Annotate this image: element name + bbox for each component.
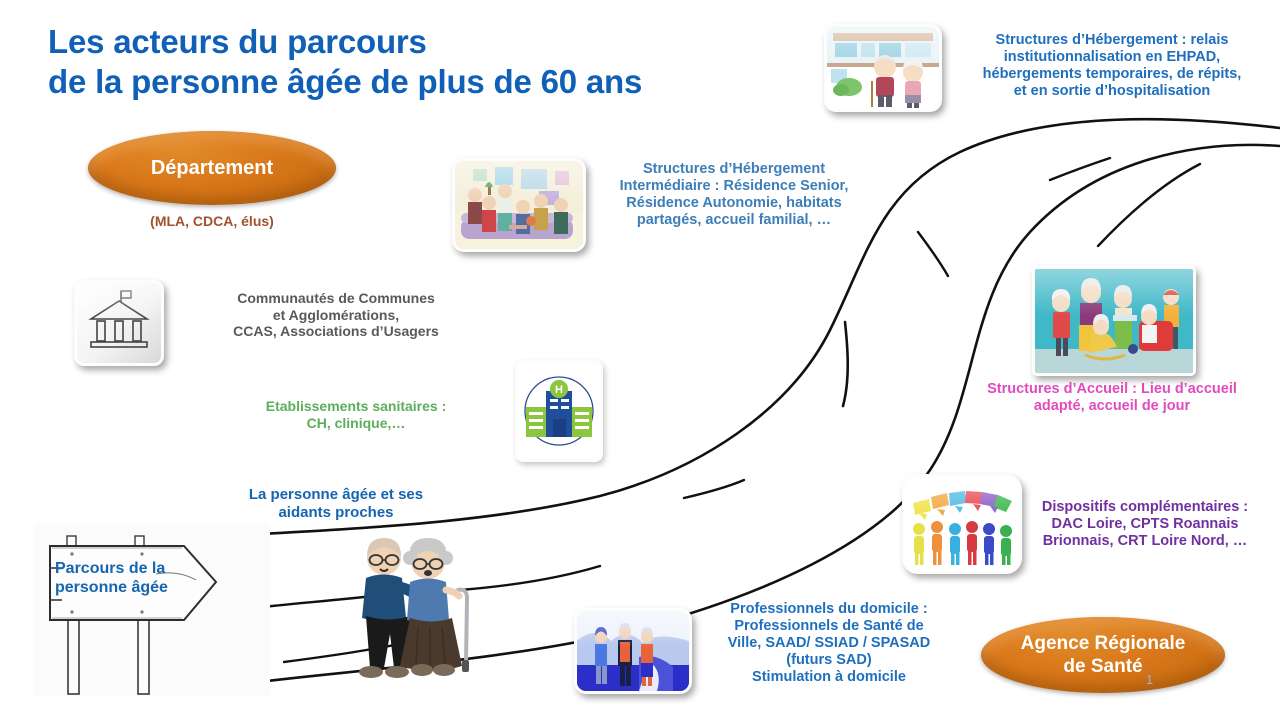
heb-top-line-3: hébergements temporaires, de répits, (950, 66, 1274, 83)
heb-top-line-2: institutionnalisation en EHPAD, (950, 49, 1274, 66)
signpost-label: Parcours de la personne âgée (55, 560, 215, 597)
network-people-puzzle-icon (902, 474, 1022, 574)
node-departement[interactable]: Département (88, 131, 336, 205)
heb-int-line-4: partagés, accueil familial, … (588, 212, 880, 229)
ars-label-line-2: de Santé (1063, 656, 1142, 677)
hospital-glyph: H (518, 363, 600, 459)
elderly-couple-glyph (340, 530, 480, 686)
caption-structures-hebergement: Structures d’Hébergement : relais instit… (950, 32, 1274, 100)
signpost-line-1: Parcours de la (55, 560, 215, 579)
disp-line-2: DAC Loire, CPTS Roannais (1012, 516, 1278, 533)
heb-top-line-1: Structures d’Hébergement : relais (950, 32, 1274, 49)
caption-communautes-communes: Communautés de Communes et Agglomération… (200, 290, 472, 340)
signpost-line-2: personne âgée (55, 579, 215, 598)
disp-line-3: Brionnais, CRT Loire Nord, … (1012, 533, 1278, 550)
home-care-professionals-image (574, 608, 692, 694)
accueil-illustration (1035, 269, 1193, 373)
disp-line-1: Dispositifs complémentaires : (1012, 499, 1278, 516)
caption-etablissements-sanitaires: Etablissements sanitaires : CH, clinique… (253, 398, 459, 431)
bank-glyph (77, 283, 161, 363)
heb-int-line-3: Résidence Autonomie, habitats (588, 195, 880, 212)
caption-hebergement-intermediaire: Structures d’Hébergement Intermédiaire :… (588, 161, 880, 229)
ehpad-illustration (827, 27, 939, 109)
comm-line-3: CCAS, Associations d’Usagers (200, 323, 472, 340)
accueil-line-2: adapté, accueil de jour (948, 398, 1276, 415)
day-care-seniors-image (1032, 266, 1196, 376)
svg-text:H: H (555, 384, 563, 396)
etab-line-1: Etablissements sanitaires : (253, 398, 459, 415)
prof-line-5: Stimulation à domicile (690, 669, 968, 686)
accueil-line-1: Structures d’Accueil : Lieu d’accueil (948, 381, 1276, 398)
professionnels-illustration (577, 611, 689, 691)
caption-structures-accueil: Structures d’Accueil : Lieu d’accueil ad… (948, 381, 1276, 415)
bank-building-icon (74, 280, 164, 366)
heb-int-line-2: Intermédiaire : Résidence Senior, (588, 178, 880, 195)
title-line-1: Les acteurs du parcours (48, 23, 427, 60)
signpost-glyph (34, 524, 270, 696)
departement-sublabel: (MLA, CDCA, élus) (88, 213, 336, 229)
prof-line-3: Ville, SAAD/ SSIAD / SPASAD (690, 635, 968, 652)
slide-canvas: Les acteurs du parcours de la personne â… (0, 0, 1280, 720)
hospital-building-icon: H (515, 360, 603, 462)
heb-int-line-1: Structures d’Hébergement (588, 161, 880, 178)
ehpad-couple-building-image (824, 24, 942, 112)
caption-personne-agee: La personne âgée et ses aidants proches (196, 486, 476, 521)
caption-professionnels-domicile: Professionnels du domicile : Professionn… (690, 601, 968, 687)
senior-residence-lounge-image (452, 158, 586, 252)
elderly-couple-illustration (340, 530, 480, 686)
pers-line-2: aidants proches (196, 504, 476, 522)
node-agence-regionale-sante[interactable]: Agence Régionale de Santé (981, 617, 1225, 693)
heb-top-line-4: et en sortie d’hospitalisation (950, 83, 1274, 100)
slide-number: 1 (1146, 672, 1153, 687)
prof-line-1: Professionnels du domicile : (690, 601, 968, 618)
residence-illustration (455, 161, 583, 249)
departement-label: Département (151, 157, 273, 180)
etab-line-2: CH, clinique,… (253, 415, 459, 432)
pers-line-1: La personne âgée et ses (196, 486, 476, 504)
wooden-signpost-icon (34, 524, 270, 696)
dispositifs-glyph (905, 477, 1019, 571)
caption-dispositifs-complementaires: Dispositifs complémentaires : DAC Loire,… (1012, 499, 1278, 550)
prof-line-4: (futurs SAD) (690, 652, 968, 669)
prof-line-2: Professionnels de Santé de (690, 618, 968, 635)
comm-line-1: Communautés de Communes (200, 290, 472, 307)
comm-line-2: et Agglomérations, (200, 307, 472, 324)
ars-label-line-1: Agence Régionale (1021, 633, 1186, 654)
page-title: Les acteurs du parcours de la personne â… (48, 22, 768, 101)
title-line-2: de la personne âgée de plus de 60 ans (48, 62, 768, 102)
